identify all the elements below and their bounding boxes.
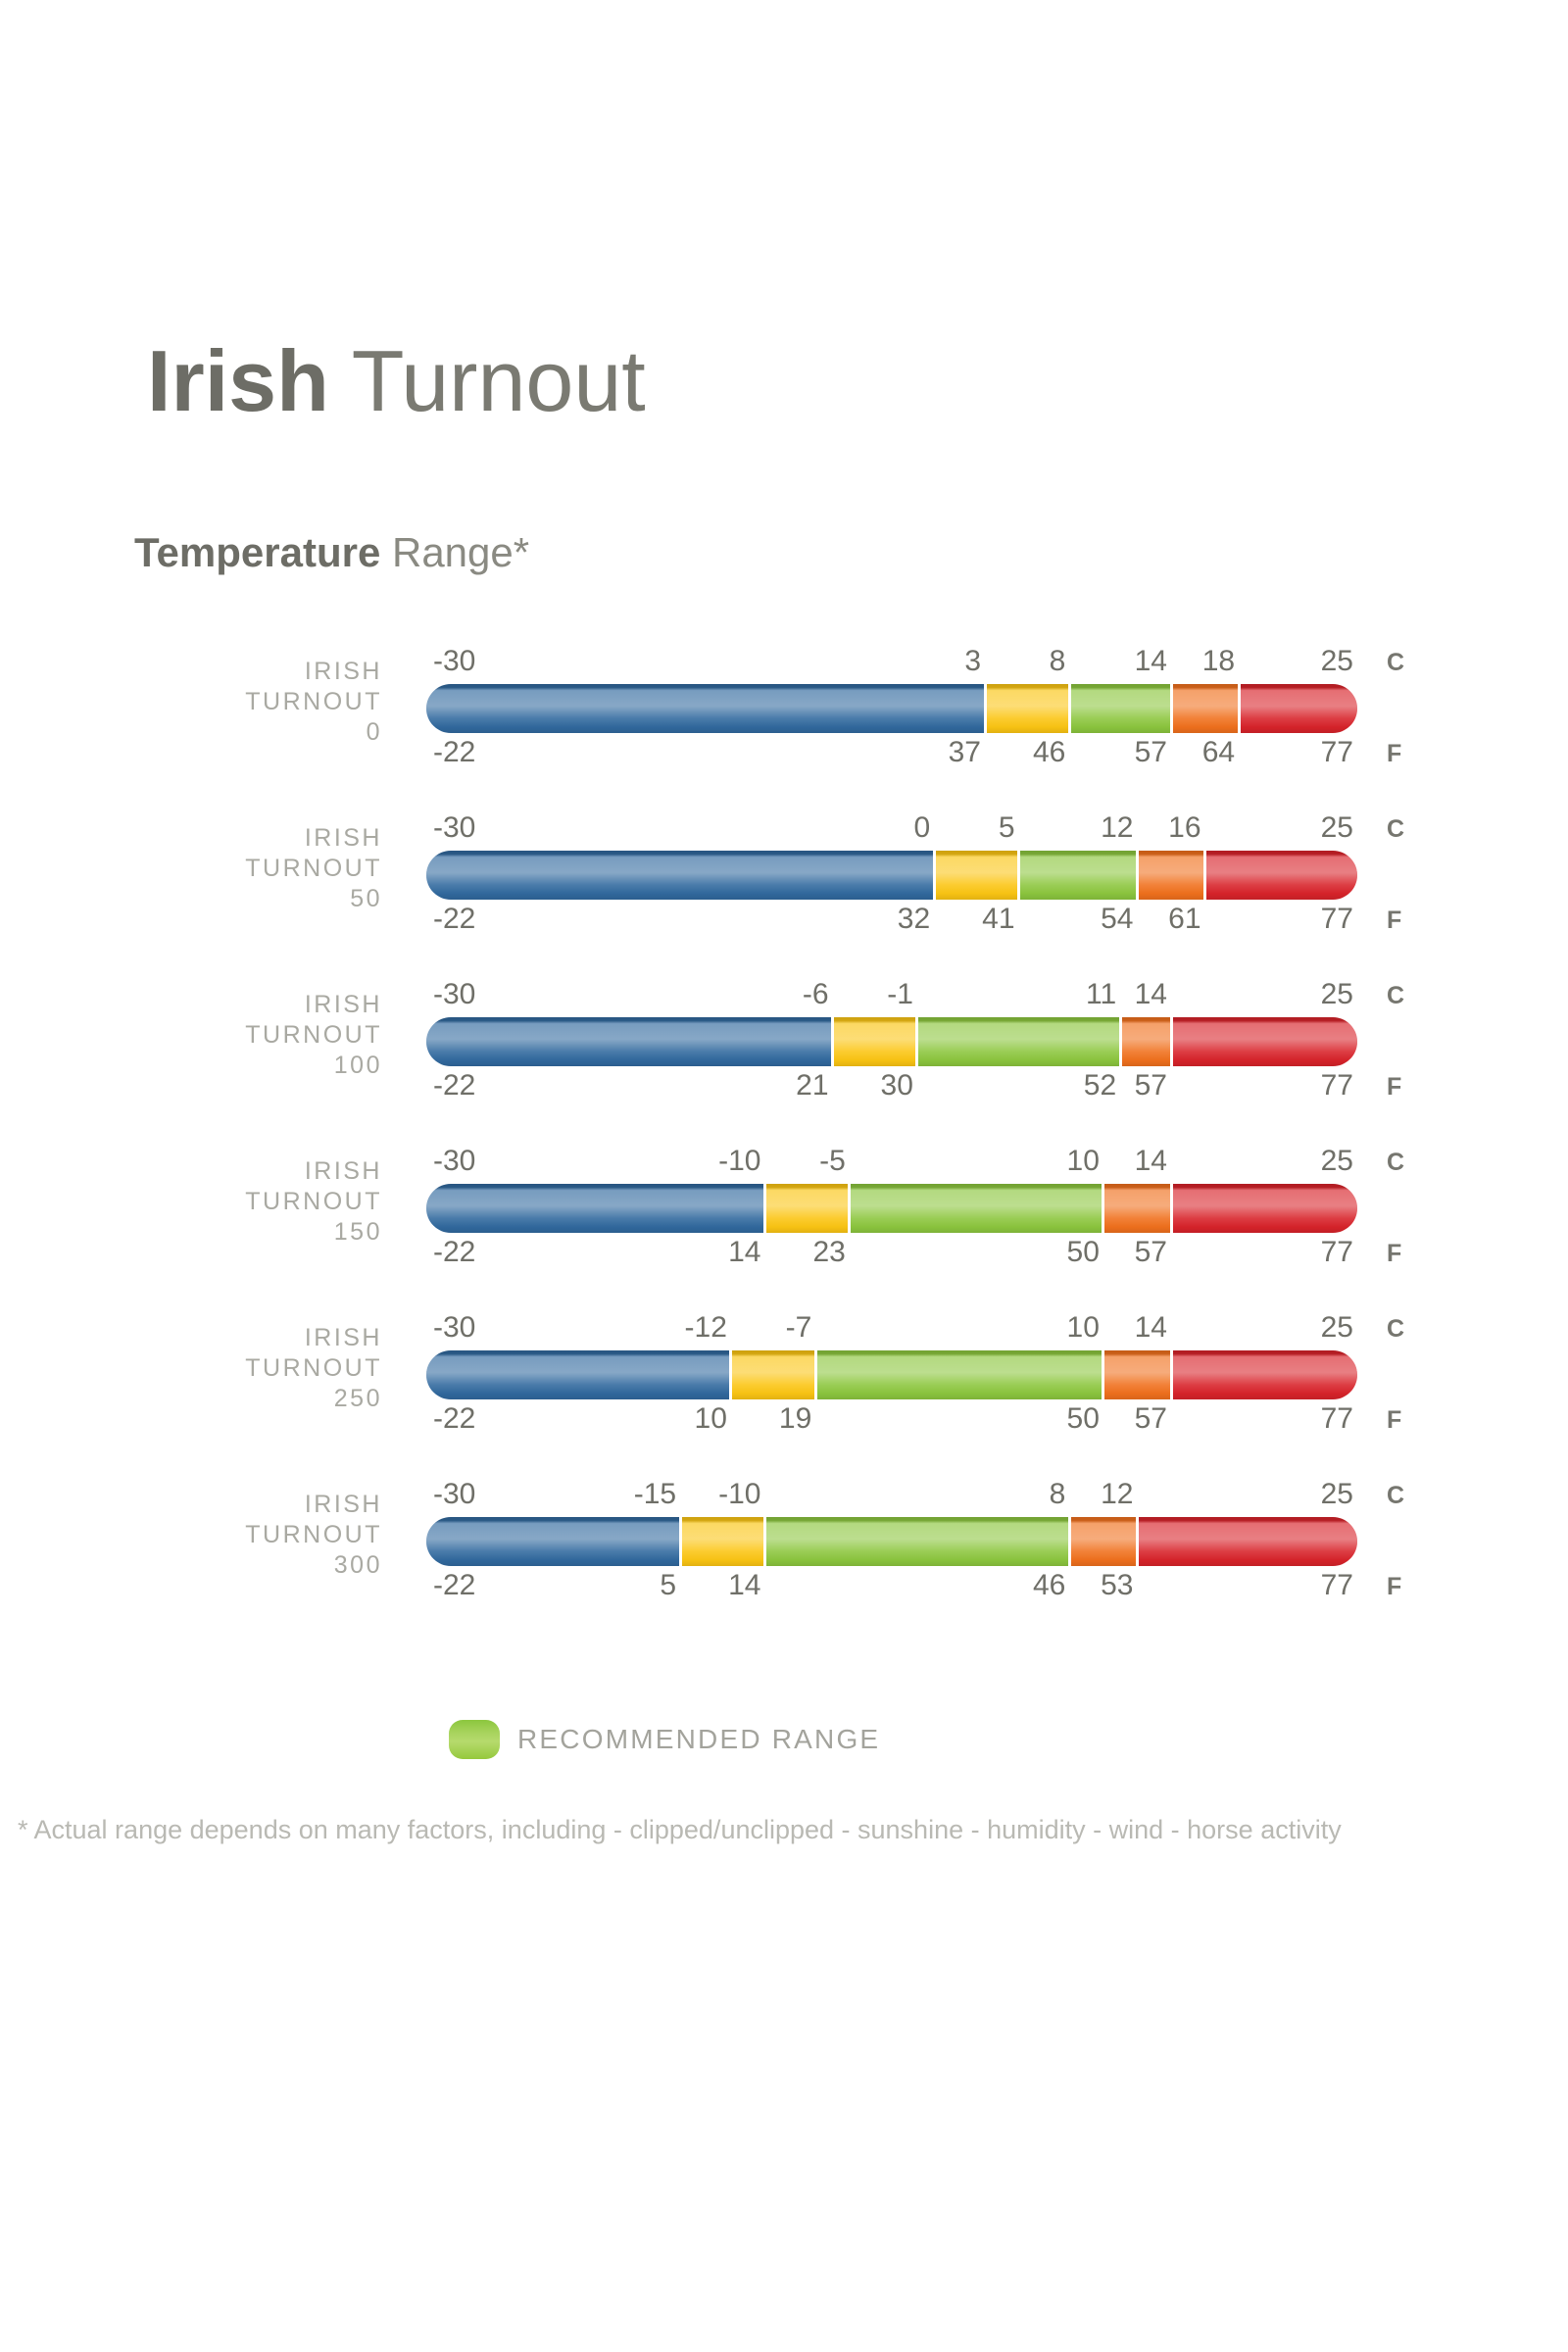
bar-segment-red — [1171, 1184, 1357, 1233]
row-label-line-3: 300 — [59, 1550, 382, 1581]
segment-gloss — [1103, 1350, 1171, 1399]
row-label: IRISHTURNOUT0 — [59, 657, 382, 748]
unit-celsius: C — [1387, 1149, 1404, 1177]
temperature-bar[interactable] — [426, 684, 1357, 733]
bar-segment-blue — [426, 1350, 731, 1399]
segment-divider — [848, 1184, 851, 1233]
segment-gloss — [764, 1184, 849, 1233]
tick-label-celsius: 12 — [1101, 1478, 1133, 1511]
unit-celsius: C — [1387, 1315, 1404, 1344]
segment-gloss — [731, 1350, 815, 1399]
bar-segment-yellow — [934, 851, 1018, 900]
row-label-line-2: TURNOUT — [59, 687, 382, 717]
bar-segment-green — [815, 1350, 1103, 1399]
segment-gloss — [1239, 684, 1357, 733]
tick-label-celsius: -7 — [786, 1311, 812, 1345]
segment-divider — [1170, 1350, 1173, 1399]
segment-gloss — [426, 1017, 833, 1066]
unit-fahrenheit: F — [1387, 1573, 1401, 1601]
row-label-line-3: 150 — [59, 1217, 382, 1248]
segment-gloss — [833, 1017, 917, 1066]
tick-label-celsius: 5 — [999, 811, 1015, 845]
chart-row: IRISHTURNOUT250-30-12-7101425-2210195057… — [0, 1274, 1568, 1441]
row-label-line-2: TURNOUT — [59, 1520, 382, 1550]
tick-label-celsius: -30 — [433, 1145, 475, 1178]
tick-label-celsius: 3 — [964, 645, 981, 678]
tick-label-fahrenheit: 77 — [1321, 1236, 1353, 1269]
tick-label-fahrenheit: -22 — [433, 1236, 475, 1269]
bar-segment-yellow — [731, 1350, 815, 1399]
bar-segment-blue — [426, 1517, 680, 1566]
segment-divider — [1136, 1517, 1139, 1566]
bar-segment-blue — [426, 851, 934, 900]
segment-divider — [1068, 684, 1071, 733]
bar-segment-yellow — [680, 1517, 764, 1566]
tick-label-fahrenheit: 41 — [982, 903, 1014, 936]
tick-label-fahrenheit: -22 — [433, 1402, 475, 1436]
bar-segment-orange — [1171, 684, 1239, 733]
segment-gloss — [985, 684, 1069, 733]
tick-label-celsius: -1 — [887, 978, 913, 1011]
tick-label-fahrenheit: 14 — [728, 1569, 760, 1602]
tick-label-celsius: 14 — [1135, 1145, 1167, 1178]
segment-gloss — [426, 851, 934, 900]
row-label-line-2: TURNOUT — [59, 1020, 382, 1051]
bar-segment-green — [1019, 851, 1138, 900]
chart-row: IRISHTURNOUT300-30-15-1081225-2251446537… — [0, 1441, 1568, 1607]
legend-label: RECOMMENDED RANGE — [517, 1724, 880, 1755]
tick-label-fahrenheit: 61 — [1168, 903, 1200, 936]
bar-segment-orange — [1137, 851, 1204, 900]
tick-label-fahrenheit: 64 — [1202, 736, 1235, 769]
tick-label-celsius: -30 — [433, 645, 475, 678]
bar-segment-red — [1171, 1350, 1357, 1399]
row-label-line-2: TURNOUT — [59, 854, 382, 884]
segment-divider — [984, 684, 987, 733]
row-label-line-1: IRISH — [59, 823, 382, 854]
segment-gloss — [1171, 684, 1239, 733]
bar-segment-orange — [1103, 1184, 1171, 1233]
row-label: IRISHTURNOUT50 — [59, 823, 382, 914]
unit-celsius: C — [1387, 982, 1404, 1010]
segment-gloss — [917, 1017, 1120, 1066]
tick-label-fahrenheit: 77 — [1321, 736, 1353, 769]
bar-segment-green — [1069, 684, 1171, 733]
row-label-line-2: TURNOUT — [59, 1187, 382, 1217]
temperature-bar[interactable] — [426, 1350, 1357, 1399]
segment-divider — [814, 1350, 817, 1399]
tick-label-celsius: 12 — [1101, 811, 1133, 845]
tick-label-fahrenheit: 37 — [949, 736, 981, 769]
segment-gloss — [1171, 1017, 1357, 1066]
segment-gloss — [426, 1350, 731, 1399]
bar-segment-yellow — [764, 1184, 849, 1233]
bar-segment-green — [850, 1184, 1103, 1233]
bar-segment-orange — [1120, 1017, 1171, 1066]
segment-gloss — [1137, 851, 1204, 900]
tick-label-fahrenheit: 77 — [1321, 1569, 1353, 1602]
tick-label-celsius: 10 — [1067, 1145, 1100, 1178]
segment-divider — [1068, 1517, 1071, 1566]
segment-divider — [933, 851, 936, 900]
segment-gloss — [1069, 1517, 1137, 1566]
tick-label-fahrenheit: 50 — [1067, 1402, 1100, 1436]
segment-gloss — [1103, 1184, 1171, 1233]
unit-fahrenheit: F — [1387, 740, 1401, 768]
unit-celsius: C — [1387, 1482, 1404, 1510]
tick-label-fahrenheit: 57 — [1135, 1402, 1167, 1436]
bar-segment-red — [1171, 1017, 1357, 1066]
row-label-line-2: TURNOUT — [59, 1353, 382, 1384]
bar-segment-red — [1239, 684, 1357, 733]
bar-segment-orange — [1103, 1350, 1171, 1399]
tick-label-fahrenheit: -22 — [433, 1069, 475, 1102]
tick-label-fahrenheit: 77 — [1321, 903, 1353, 936]
chart-row: IRISHTURNOUT0-3038141825-223746576477CF — [0, 608, 1568, 774]
tick-label-celsius: -5 — [819, 1145, 846, 1178]
tick-label-celsius: -10 — [718, 1145, 760, 1178]
unit-fahrenheit: F — [1387, 1073, 1401, 1102]
segment-divider — [1170, 684, 1173, 733]
tick-label-fahrenheit: -22 — [433, 903, 475, 936]
segment-divider — [729, 1350, 732, 1399]
unit-celsius: C — [1387, 649, 1404, 677]
row-label-line-1: IRISH — [59, 657, 382, 687]
segment-divider — [831, 1017, 834, 1066]
bar-segment-blue — [426, 1184, 764, 1233]
segment-gloss — [934, 851, 1018, 900]
tick-label-fahrenheit: 52 — [1084, 1069, 1116, 1102]
segment-divider — [1136, 851, 1139, 900]
tick-label-celsius: 25 — [1321, 1311, 1353, 1345]
tick-label-celsius: 11 — [1086, 978, 1116, 1011]
unit-fahrenheit: F — [1387, 906, 1401, 935]
tick-label-celsius: -30 — [433, 978, 475, 1011]
tick-label-fahrenheit: 19 — [779, 1402, 811, 1436]
tick-label-celsius: -6 — [803, 978, 829, 1011]
tick-label-fahrenheit: 46 — [1033, 736, 1065, 769]
tick-label-celsius: -30 — [433, 811, 475, 845]
temperature-bar[interactable] — [426, 1184, 1357, 1233]
segment-gloss — [1019, 851, 1138, 900]
segment-gloss — [1069, 684, 1171, 733]
bar-segment-red — [1205, 851, 1357, 900]
tick-label-celsius: -15 — [634, 1478, 676, 1511]
segment-divider — [679, 1517, 682, 1566]
row-label-line-1: IRISH — [59, 1323, 382, 1353]
bar-segment-red — [1137, 1517, 1357, 1566]
bar-segment-yellow — [985, 684, 1069, 733]
tick-label-celsius: 0 — [913, 811, 930, 845]
segment-divider — [1170, 1184, 1173, 1233]
tick-label-celsius: -10 — [718, 1478, 760, 1511]
tick-label-celsius: -30 — [433, 1478, 475, 1511]
segment-gloss — [764, 1517, 1069, 1566]
row-label-line-1: IRISH — [59, 990, 382, 1020]
segment-gloss — [426, 1184, 764, 1233]
tick-label-celsius: 25 — [1321, 645, 1353, 678]
tick-label-fahrenheit: 57 — [1135, 736, 1167, 769]
poster: Irish Turnout Temperature Range* IRISHTU… — [0, 0, 1568, 2352]
tick-label-fahrenheit: 50 — [1067, 1236, 1100, 1269]
unit-fahrenheit: F — [1387, 1240, 1401, 1268]
tick-label-fahrenheit: 53 — [1101, 1569, 1133, 1602]
row-label: IRISHTURNOUT100 — [59, 990, 382, 1081]
segment-gloss — [680, 1517, 764, 1566]
tick-label-celsius: -12 — [685, 1311, 727, 1345]
temperature-range-chart: IRISHTURNOUT0-3038141825-223746576477CFI… — [0, 0, 1568, 2352]
segment-gloss — [850, 1184, 1103, 1233]
tick-label-celsius: 8 — [1050, 645, 1066, 678]
tick-label-fahrenheit: 77 — [1321, 1402, 1353, 1436]
segment-gloss — [1120, 1017, 1171, 1066]
tick-label-celsius: 8 — [1050, 1478, 1066, 1511]
tick-label-fahrenheit: 21 — [796, 1069, 828, 1102]
tick-label-celsius: 10 — [1067, 1311, 1100, 1345]
chart-row: IRISHTURNOUT100-30-6-1111425-22213052577… — [0, 941, 1568, 1107]
segment-divider — [915, 1017, 918, 1066]
row-label: IRISHTURNOUT250 — [59, 1323, 382, 1414]
segment-divider — [1119, 1017, 1122, 1066]
tick-label-fahrenheit: 54 — [1101, 903, 1133, 936]
tick-label-celsius: 18 — [1202, 645, 1235, 678]
tick-label-fahrenheit: 30 — [881, 1069, 913, 1102]
chart-row: IRISHTURNOUT150-30-10-5101425-2214235057… — [0, 1107, 1568, 1274]
segment-divider — [1102, 1184, 1104, 1233]
legend: RECOMMENDED RANGE — [449, 1720, 880, 1759]
temperature-bar[interactable] — [426, 1517, 1357, 1566]
bar-segment-blue — [426, 684, 985, 733]
segment-divider — [1203, 851, 1206, 900]
bar-segment-orange — [1069, 1517, 1137, 1566]
segment-gloss — [815, 1350, 1103, 1399]
segment-gloss — [1171, 1184, 1357, 1233]
tick-label-fahrenheit: -22 — [433, 1569, 475, 1602]
segment-divider — [763, 1184, 766, 1233]
tick-label-fahrenheit: 46 — [1033, 1569, 1065, 1602]
segment-divider — [1017, 851, 1020, 900]
segment-gloss — [1137, 1517, 1357, 1566]
segment-divider — [763, 1517, 766, 1566]
segment-gloss — [426, 684, 985, 733]
footnote: * Actual range depends on many factors, … — [18, 1815, 1556, 1845]
tick-label-fahrenheit: 57 — [1135, 1236, 1167, 1269]
bar-segment-green — [764, 1517, 1069, 1566]
tick-label-celsius: -30 — [433, 1311, 475, 1345]
row-label: IRISHTURNOUT300 — [59, 1490, 382, 1581]
tick-label-celsius: 14 — [1135, 645, 1167, 678]
row-label: IRISHTURNOUT150 — [59, 1156, 382, 1248]
tick-label-celsius: 16 — [1168, 811, 1200, 845]
unit-fahrenheit: F — [1387, 1406, 1401, 1435]
unit-celsius: C — [1387, 815, 1404, 844]
row-label-line-1: IRISH — [59, 1156, 382, 1187]
bar-segment-blue — [426, 1017, 833, 1066]
tick-label-fahrenheit: 14 — [728, 1236, 760, 1269]
recommended-range-swatch — [449, 1720, 500, 1759]
tick-label-fahrenheit: 10 — [695, 1402, 727, 1436]
tick-label-fahrenheit: 77 — [1321, 1069, 1353, 1102]
segment-gloss — [1205, 851, 1357, 900]
tick-label-celsius: 25 — [1321, 1145, 1353, 1178]
row-label-line-3: 250 — [59, 1384, 382, 1414]
temperature-bar[interactable] — [426, 1017, 1357, 1066]
tick-label-fahrenheit: 32 — [898, 903, 930, 936]
segment-divider — [1102, 1350, 1104, 1399]
row-label-line-3: 0 — [59, 717, 382, 748]
segment-gloss — [426, 1517, 680, 1566]
tick-label-celsius: 14 — [1135, 978, 1167, 1011]
tick-label-celsius: 25 — [1321, 1478, 1353, 1511]
tick-label-celsius: 14 — [1135, 1311, 1167, 1345]
tick-label-fahrenheit: 23 — [812, 1236, 845, 1269]
tick-label-fahrenheit: -22 — [433, 736, 475, 769]
temperature-bar[interactable] — [426, 851, 1357, 900]
row-label-line-3: 100 — [59, 1051, 382, 1081]
segment-divider — [1170, 1017, 1173, 1066]
tick-label-fahrenheit: 5 — [660, 1569, 676, 1602]
bar-segment-green — [917, 1017, 1120, 1066]
row-label-line-3: 50 — [59, 884, 382, 914]
tick-label-fahrenheit: 57 — [1135, 1069, 1167, 1102]
row-label-line-1: IRISH — [59, 1490, 382, 1520]
chart-row: IRISHTURNOUT50-3005121625-223241546177CF — [0, 774, 1568, 941]
segment-gloss — [1171, 1350, 1357, 1399]
tick-label-celsius: 25 — [1321, 978, 1353, 1011]
bar-segment-yellow — [833, 1017, 917, 1066]
tick-label-celsius: 25 — [1321, 811, 1353, 845]
segment-divider — [1238, 684, 1241, 733]
